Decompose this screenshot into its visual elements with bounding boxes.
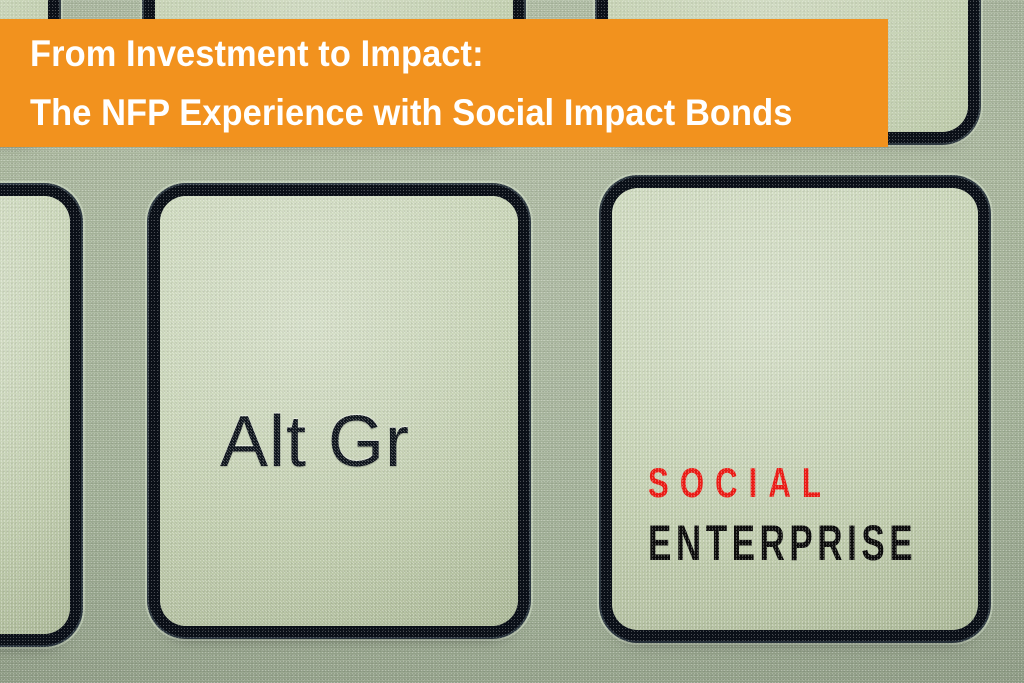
title-line-2: The NFP Experience with Social Impact Bo… [30, 94, 828, 131]
promo-banner-image: Alt Gr SOCIAL ENTERPRISE From Investment… [0, 0, 1024, 683]
title-line-1: From Investment to Impact: [30, 35, 828, 72]
social-enterprise-line1: SOCIAL [648, 462, 879, 504]
social-enterprise-line2: ENTERPRISE [648, 518, 866, 568]
keycap-social-enterprise: SOCIAL ENTERPRISE [612, 188, 978, 630]
keycap-alt-gr: Alt Gr [160, 196, 518, 626]
keycap-alt-gr-label: Alt Gr [220, 406, 410, 478]
keycap-blank-partial [0, 196, 70, 634]
social-enterprise-stamp: SOCIAL ENTERPRISE [648, 462, 960, 568]
title-banner: From Investment to Impact: The NFP Exper… [0, 19, 888, 147]
